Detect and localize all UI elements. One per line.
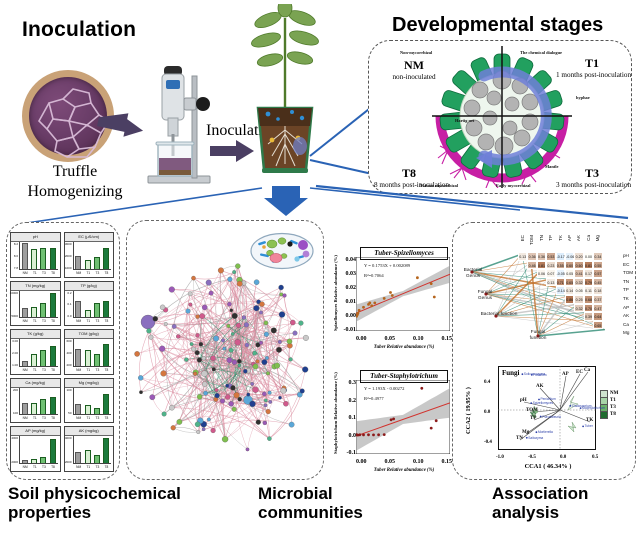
- cca-legend: NMT1T3T8: [600, 390, 630, 418]
- heatmap-cell: 0.60: [574, 261, 583, 270]
- heatmap-cell: 0.41: [574, 269, 583, 278]
- tick-label: 0.05: [385, 336, 396, 342]
- cca-env-label: TOM: [526, 408, 538, 413]
- soil-bar-T3: [40, 248, 46, 270]
- cca-xtick: -1.0: [496, 455, 504, 460]
- soil-charts-grid: pH8.28.07.8NMT1T3T8EC (μS/cm)30002000100…: [10, 232, 114, 472]
- heatmap-cell: 0.65: [565, 278, 574, 287]
- cca-taxon-label: Tuber: [585, 424, 593, 428]
- heatmap-cell: 0.17: [584, 269, 593, 278]
- heatmap-col-label: TOM: [529, 235, 534, 245]
- heatmap-cell: 0.25: [574, 295, 583, 304]
- soil-bar-T8: [103, 301, 109, 318]
- heatmap-cell: 0.37: [593, 295, 602, 304]
- cca-legend-label: T1: [610, 398, 616, 403]
- soil-chart-xaxis: NMT1T3T8: [20, 269, 58, 277]
- tick-label: 0.0: [349, 433, 357, 439]
- heatmap-cell: 0.81: [537, 261, 546, 270]
- soil-chart-yaxis: 8.28.07.8: [11, 242, 20, 270]
- heatmap-row-label: Mg: [623, 329, 629, 337]
- heatmap-cell: 0.60: [565, 261, 574, 270]
- network-node-fungal-function: Fungal function: [522, 330, 554, 341]
- tick-label: 0.3: [349, 380, 357, 386]
- tick-label: 0.10: [413, 336, 424, 342]
- soil-chart-title: TP (g/kg): [65, 282, 114, 291]
- tick-label: -0.1: [347, 450, 357, 456]
- scatter-plot-tuber-staphylotrichum: Tuber-Staphylotrichum Staphylotrichum Re…: [334, 368, 452, 472]
- soil-bar-T8: [103, 438, 109, 464]
- heatmap-cell: 0.57: [593, 269, 602, 278]
- soil-chart-xaxis: NMT1T3T8: [74, 317, 112, 325]
- cca-env-label: AK: [536, 384, 544, 389]
- dev-tiny-mantle: Mantle: [545, 164, 558, 169]
- heatmap-cell: 0.79: [584, 278, 593, 287]
- heatmap-row-label: pH: [623, 252, 629, 260]
- soil-chart-bars: [74, 291, 112, 319]
- heatmap-cell: 0.71: [556, 278, 565, 287]
- soil-bar-T3: [40, 350, 46, 367]
- cca-taxon-label: Spizellomyces: [533, 401, 553, 405]
- soil-bar-T1: [31, 249, 37, 269]
- soil-chart-bars: [74, 339, 112, 367]
- soil-bar-T8: [50, 293, 56, 318]
- dev-stage-t1-sub: 1 months post-inoculation: [556, 71, 628, 79]
- tick-label: 0.04: [346, 257, 357, 263]
- heatmap-cell: -0.14: [556, 286, 565, 295]
- heatmap-row-label: TN: [623, 278, 629, 286]
- soil-chart-tk: TK (g/kg)3.002.001.00NMT1T3T8: [10, 329, 61, 375]
- caption-micro-l2: communities: [258, 503, 438, 522]
- heatmap-col-label: Mg: [595, 235, 600, 241]
- soil-bar-NM: [75, 256, 81, 270]
- soil-chart-bars: [74, 436, 112, 464]
- heatmap-cell: 0.20: [574, 252, 583, 261]
- scatter2-canvas: [356, 380, 450, 454]
- cca-env-label: TK: [586, 418, 593, 423]
- heatmap-cell: 0.07: [546, 269, 555, 278]
- tick-label: 0.00: [356, 459, 367, 465]
- dev-stage-nm-code: NM: [382, 58, 446, 73]
- heatmap-cell: 0.36: [537, 252, 546, 261]
- heatmap-row-label: TP: [623, 286, 629, 294]
- heatmap-cell: 0.13: [518, 252, 527, 261]
- heatmap-row-label: AP: [623, 304, 629, 312]
- soil-bar-T8: [103, 248, 109, 270]
- heatmap-cell: 0.53: [546, 252, 555, 261]
- heatmap-cell: 0.81: [584, 261, 593, 270]
- network-node-fungal-genus: Fungal Genus: [470, 290, 500, 301]
- network-node-bacterial-genus: Bacterial Genus: [456, 268, 490, 279]
- heatmap-cell: -0.06: [565, 252, 574, 261]
- soil-bar-T3: [40, 303, 46, 318]
- soil-chart-xaxis: NMT1T3T8: [20, 463, 58, 471]
- heatmap-cell: 0.36: [527, 252, 536, 261]
- heatmap-row-label: EC: [623, 261, 629, 269]
- soil-chart-tp: TP (g/kg)0.20.10.0NMT1T3T8: [64, 281, 115, 327]
- soil-chart-bars: [20, 242, 58, 270]
- scatter1-xlabel: Tuber Relative abundance (%): [356, 345, 452, 350]
- soil-bar-T8: [50, 346, 56, 366]
- tick-label: 0.2: [349, 398, 357, 404]
- heatmap-cell: -0.17: [556, 252, 565, 261]
- soil-chart-title: TOM (g/kg): [65, 330, 114, 339]
- soil-chart-bars: [74, 242, 112, 270]
- caption-soil-l2: properties: [8, 503, 223, 522]
- co-occurrence-network-graph: [130, 250, 318, 472]
- heatmap-cell: 0.55: [556, 261, 565, 270]
- scatter1-yticks: 0.040.030.020.010.00-0.01: [343, 257, 356, 333]
- dev-stage-t3-code: T3: [556, 166, 628, 181]
- scatter1-canvas: [356, 257, 450, 331]
- cca-ytick: 0.4: [484, 380, 490, 385]
- heatmap-col-label: TP: [548, 235, 553, 241]
- heatmap-col-label: Ca: [586, 235, 591, 241]
- soil-chart-xaxis: NMT1T3T8: [74, 366, 112, 374]
- caption-soil: Soil physicochemical properties: [8, 484, 223, 522]
- dev-stage-nm: NM non-inoculated: [382, 58, 446, 81]
- scatter2-xlabel: Tuber Relative abundance (%): [356, 468, 452, 473]
- cca-legend-label: T3: [610, 405, 616, 410]
- heatmap-cell: 0.23: [546, 261, 555, 270]
- network-node-bacterial-function: Bacterial function: [480, 312, 518, 318]
- developmental-stages-title: Developmental stages: [392, 14, 603, 37]
- dev-tiny-hyphae: hyphae: [576, 95, 590, 100]
- cca-env-label: TP: [530, 416, 536, 421]
- soil-bar-T3: [94, 303, 100, 318]
- soil-bar-T8: [50, 439, 56, 464]
- heatmap-row-label: TK: [623, 295, 629, 303]
- cca-env-label: TN: [516, 436, 523, 441]
- soil-bar-T3: [40, 399, 46, 416]
- heatmap-cell: 0.70: [584, 304, 593, 313]
- soil-chart-mg: Mg (mg/kg)10050NMT1T3T8: [64, 378, 115, 424]
- heatmap-cell: 0.18: [593, 286, 602, 295]
- soil-chart-yaxis: 0.20.10.0: [65, 291, 74, 319]
- tick-label: 0.15: [442, 336, 453, 342]
- heatmap-col-label: TN: [539, 235, 544, 241]
- soil-chart-yaxis: 300020001000: [65, 242, 74, 270]
- soil-chart-yaxis: 200100: [11, 388, 20, 416]
- inoculation-title: Inoculation: [22, 18, 136, 42]
- caption-microbial: Microbial communities: [258, 484, 438, 522]
- soil-chart-bars: [20, 339, 58, 367]
- cca-legend-swatch: [600, 411, 608, 419]
- scatter2-yticks: 0.30.20.10.0-0.1: [343, 380, 356, 456]
- tick-label: 0.15: [442, 459, 453, 465]
- soil-chart-xaxis: NMT1T3T8: [20, 414, 58, 422]
- soil-chart-title: Ca (mg/kg): [11, 379, 60, 388]
- scatter1-xticks: 0.000.050.100.15: [356, 336, 452, 342]
- tick-label: 0.10: [413, 459, 424, 465]
- soil-chart-yaxis: 600400200: [65, 339, 74, 367]
- heatmap-cell: 0.14: [565, 286, 574, 295]
- heatmap-cell: 0.39: [584, 312, 593, 321]
- cca-xtick: -0.5: [528, 455, 536, 460]
- soil-chart-bars: [20, 436, 58, 464]
- heatmap-cell: 0.11: [584, 286, 593, 295]
- heatmap-cell: 0.46: [527, 261, 536, 270]
- tick-label: 0.00: [356, 336, 367, 342]
- cca-ytick: -0.4: [484, 440, 492, 445]
- tick-label: 0.05: [385, 459, 396, 465]
- scatter-plot-tuber-spizellomyces: Tuber-Spizellomyces Spizellomyces Relati…: [334, 245, 452, 349]
- dev-stage-t1: T1 1 months post-inoculation: [556, 56, 628, 79]
- soil-bar-T1: [85, 450, 91, 464]
- soil-chart-ca: Ca (mg/kg)200100NMT1T3T8: [10, 378, 61, 424]
- dev-stage-t8-code: T8: [374, 166, 444, 181]
- heatmap-cell: 0.13: [546, 278, 555, 287]
- scatter2-xticks: 0.000.050.100.15: [356, 459, 452, 465]
- soil-bar-T1: [85, 350, 91, 367]
- cca-env-label: pH: [520, 398, 527, 403]
- dev-tiny-chemical-dialogue: The chemical dialogue: [520, 50, 562, 55]
- caption-assoc-l1: Association: [492, 484, 632, 503]
- soil-chart-tn: TN (mg/kg)100005000NMT1T3T8: [10, 281, 61, 327]
- cca-legend-item: T8: [600, 411, 630, 418]
- heatmap-cell: 0.05: [565, 269, 574, 278]
- caption-micro-l1: Microbial: [258, 484, 438, 503]
- soil-chart-ec: EC (μS/cm)300020001000NMT1T3T8: [64, 232, 115, 278]
- heatmap-cell: -0.05: [556, 269, 565, 278]
- soil-chart-ak: AK (mg/kg)40002000NMT1T3T8: [64, 426, 115, 472]
- cca-taxon-label: Saitozyma: [528, 436, 543, 440]
- heatmap-col-label: AK: [576, 235, 581, 241]
- soil-chart-title: pH: [11, 233, 60, 242]
- soil-bar-T8: [103, 344, 109, 367]
- heatmap-cell: 0.64: [593, 312, 602, 321]
- dev-stage-nm-sub: non-inoculated: [382, 73, 446, 81]
- soil-chart-bars: [20, 388, 58, 416]
- soil-chart-yaxis: 100005000: [11, 291, 20, 319]
- cca-xtick: 0.0: [560, 455, 566, 460]
- truffle-label-line1: Truffle: [20, 162, 130, 182]
- tick-label: 0.1: [349, 415, 357, 421]
- soil-bar-T3: [94, 354, 100, 367]
- soil-chart-yaxis: 40002000: [65, 436, 74, 464]
- heatmap-cell: 0.06: [537, 269, 546, 278]
- cca-env-label: AP: [562, 372, 569, 377]
- cca-xlabel: CCA1 ( 46.34% ): [494, 463, 602, 470]
- tick-label: 0.00: [346, 313, 357, 319]
- cca-ordination-plot: Fungi CCA2 ( 19.95% ) CCA1 ( 46.34% ) -1…: [464, 356, 632, 472]
- heatmap-cell: 0.32: [574, 304, 583, 313]
- heatmap-row-label: Ca: [623, 321, 629, 329]
- heatmap-cell: 0.55: [593, 261, 602, 270]
- soil-chart-title: EC (μS/cm): [65, 233, 114, 242]
- soil-chart-xaxis: NMT1T3T8: [74, 414, 112, 422]
- soil-chart-tom: TOM (g/kg)600400200NMT1T3T8: [64, 329, 115, 375]
- soil-chart-yaxis: 40002000: [11, 436, 20, 464]
- soil-bar-NM: [75, 349, 81, 367]
- soil-chart-title: AP (mg/kg): [11, 427, 60, 436]
- heatmap-cell: 0.00: [584, 252, 593, 261]
- cca-ylabel: CCA2 ( 19.95% ): [465, 374, 476, 448]
- soil-chart-ap: AP (mg/kg)40002000NMT1T3T8: [10, 426, 61, 472]
- heatmap-cell: 0.05: [574, 286, 583, 295]
- caption-association: Association analysis: [492, 484, 632, 522]
- heatmap-col-label: EC: [520, 235, 525, 241]
- caption-assoc-l2: analysis: [492, 503, 632, 522]
- dev-stage-t1-code: T1: [556, 56, 628, 71]
- cca-ytick: 0.0: [484, 410, 490, 415]
- soil-chart-title: AK (mg/kg): [65, 427, 114, 436]
- soil-bar-NM: [75, 301, 81, 318]
- soil-bar-T8: [50, 248, 56, 270]
- cca-xtick: 0.5: [592, 455, 598, 460]
- heatmap-col-label: TK: [558, 235, 563, 241]
- soil-chart-xaxis: NMT1T3T8: [20, 317, 58, 325]
- soil-bar-NM: [22, 243, 28, 269]
- heatmap-cell: 0.68: [584, 295, 593, 304]
- cca-taxon-label: Cladosporium: [572, 404, 592, 408]
- cca-taxon-label: Pseudaleuria: [542, 415, 561, 419]
- dev-tiny-hartig-net: Hartig net: [455, 118, 474, 123]
- cca-legend-label: NM: [610, 391, 618, 396]
- cca-env-label: EC: [576, 370, 583, 375]
- soil-bar-T8: [50, 397, 56, 416]
- cca-legend-label: T8: [610, 412, 616, 417]
- soil-chart-title: Mg (mg/kg): [65, 379, 114, 388]
- tick-label: 0.03: [346, 271, 357, 277]
- soil-chart-bars: [74, 388, 112, 416]
- soil-chart-title: TN (mg/kg): [11, 282, 60, 291]
- dev-tiny-non-mycorrhizal: Non-mycorrhizal: [400, 50, 432, 55]
- heatmap-row-label: TOM: [623, 269, 633, 277]
- soil-chart-xaxis: NMT1T3T8: [74, 269, 112, 277]
- cca-taxon-label: Penicillium: [541, 397, 556, 401]
- heatmap-col-label: AP: [567, 235, 572, 241]
- heatmap-cell: 0.86: [565, 295, 574, 304]
- cca-env-label: Mg: [522, 430, 529, 435]
- soil-chart-yaxis: 10050: [65, 388, 74, 416]
- cca-taxon-label: Fusarium: [533, 373, 546, 377]
- cca-taxon-label: Mortierella: [538, 430, 553, 434]
- heatmap-row-label: AK: [623, 312, 629, 320]
- heatmap-cell: 0.47: [593, 304, 602, 313]
- soil-chart-xaxis: NMT1T3T8: [20, 366, 58, 374]
- soil-chart-bars: [20, 291, 58, 319]
- soil-chart-title: TK (g/kg): [11, 330, 60, 339]
- soil-chart-xaxis: NMT1T3T8: [74, 463, 112, 471]
- heatmap-cell: 0.32: [574, 278, 583, 287]
- heatmap-cell: 0.65: [593, 321, 602, 330]
- soil-chart-yaxis: 3.002.001.00: [11, 339, 20, 367]
- tick-label: 0.01: [346, 299, 357, 305]
- tick-label: -0.01: [344, 327, 357, 333]
- soil-bar-T8: [103, 394, 109, 416]
- soil-chart-ph: pH8.28.07.8NMT1T3T8: [10, 232, 61, 278]
- soil-bar-T1: [31, 354, 37, 367]
- caption-soil-l1: Soil physicochemical: [8, 484, 223, 503]
- heatmap-cell: 0.45: [593, 278, 602, 287]
- heatmap-cell: 0.34: [593, 252, 602, 261]
- tick-label: 0.02: [346, 285, 357, 291]
- cca-env-label: Ca: [584, 368, 590, 373]
